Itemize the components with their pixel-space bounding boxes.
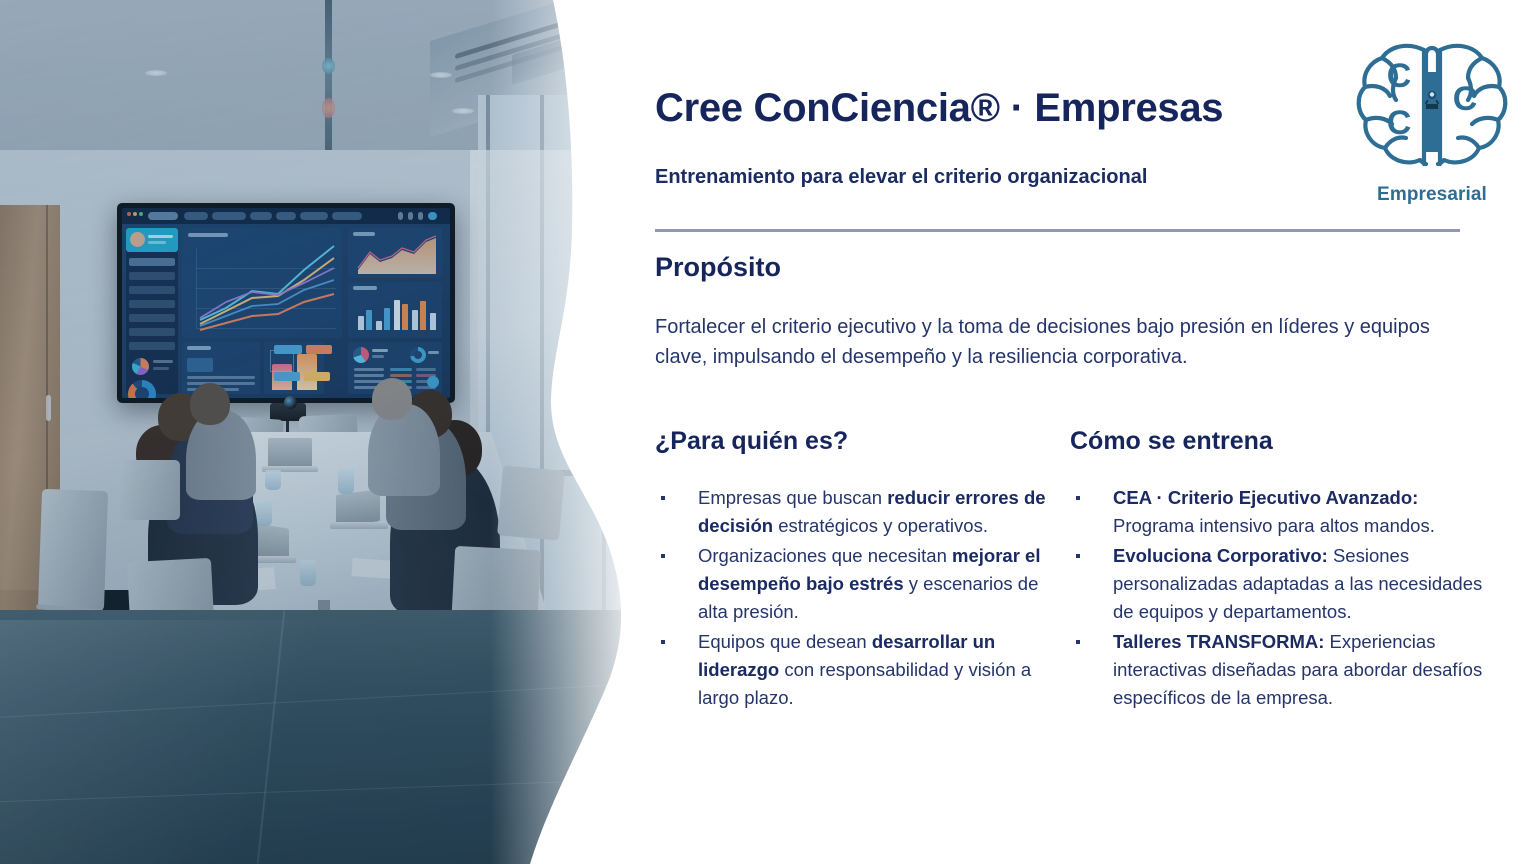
- audience-section: ¿Para quién es? Empresas que buscan redu…: [655, 428, 1055, 714]
- logo-wordmark: Empresarial: [1352, 184, 1512, 206]
- purpose-body: Fortalecer el criterio ejecutivo y la to…: [655, 312, 1445, 372]
- training-section: Cómo se entrena CEA · Criterio Ejecutivo…: [1070, 428, 1500, 714]
- brand-logo: C C C Empresarial: [1352, 32, 1512, 192]
- page-subtitle: Entrenamiento para elevar el criterio or…: [655, 166, 1147, 189]
- photo-edge-fade: [490, 0, 640, 864]
- list-item: Empresas que buscan reducir errores de d…: [655, 484, 1055, 540]
- logo-letter-c: C: [1453, 80, 1478, 118]
- training-list: CEA · Criterio Ejecutivo Avanzado: Progr…: [1070, 484, 1500, 712]
- brain-logo-icon: C C C: [1352, 32, 1512, 182]
- training-heading: Cómo se entrena: [1070, 428, 1500, 456]
- purpose-heading: Propósito: [655, 252, 781, 283]
- boardroom-photo: [0, 0, 640, 864]
- list-item: Organizaciones que necesitan mejorar el …: [655, 542, 1055, 626]
- list-item-emphasis: mejorar el desempeño bajo estrés: [698, 545, 1040, 594]
- slide-root: Cree ConCiencia® · Empresas Entrenamient…: [0, 0, 1536, 864]
- list-item: Equipos que desean desarrollar un lidera…: [655, 628, 1055, 712]
- page-title: Cree ConCiencia® · Empresas: [655, 86, 1223, 131]
- list-item-emphasis: desarrollar un liderazgo: [698, 631, 995, 680]
- list-item-emphasis: Evoluciona Corporativo:: [1113, 545, 1328, 566]
- logo-letter-c: C: [1387, 104, 1412, 142]
- list-item: Talleres TRANSFORMA: Experiencias intera…: [1070, 628, 1500, 712]
- logo-letter-c: C: [1387, 57, 1412, 95]
- list-item: Evoluciona Corporativo: Sesiones persona…: [1070, 542, 1500, 626]
- list-item-emphasis: CEA · Criterio Ejecutivo Avanzado:: [1113, 487, 1418, 508]
- audience-heading: ¿Para quién es?: [655, 428, 1055, 456]
- list-item: CEA · Criterio Ejecutivo Avanzado: Progr…: [1070, 484, 1500, 540]
- audience-list: Empresas que buscan reducir errores de d…: [655, 484, 1055, 712]
- list-item-emphasis: Talleres TRANSFORMA:: [1113, 631, 1324, 652]
- header-divider: [655, 229, 1460, 232]
- list-item-emphasis: reducir errores de decisión: [698, 487, 1046, 536]
